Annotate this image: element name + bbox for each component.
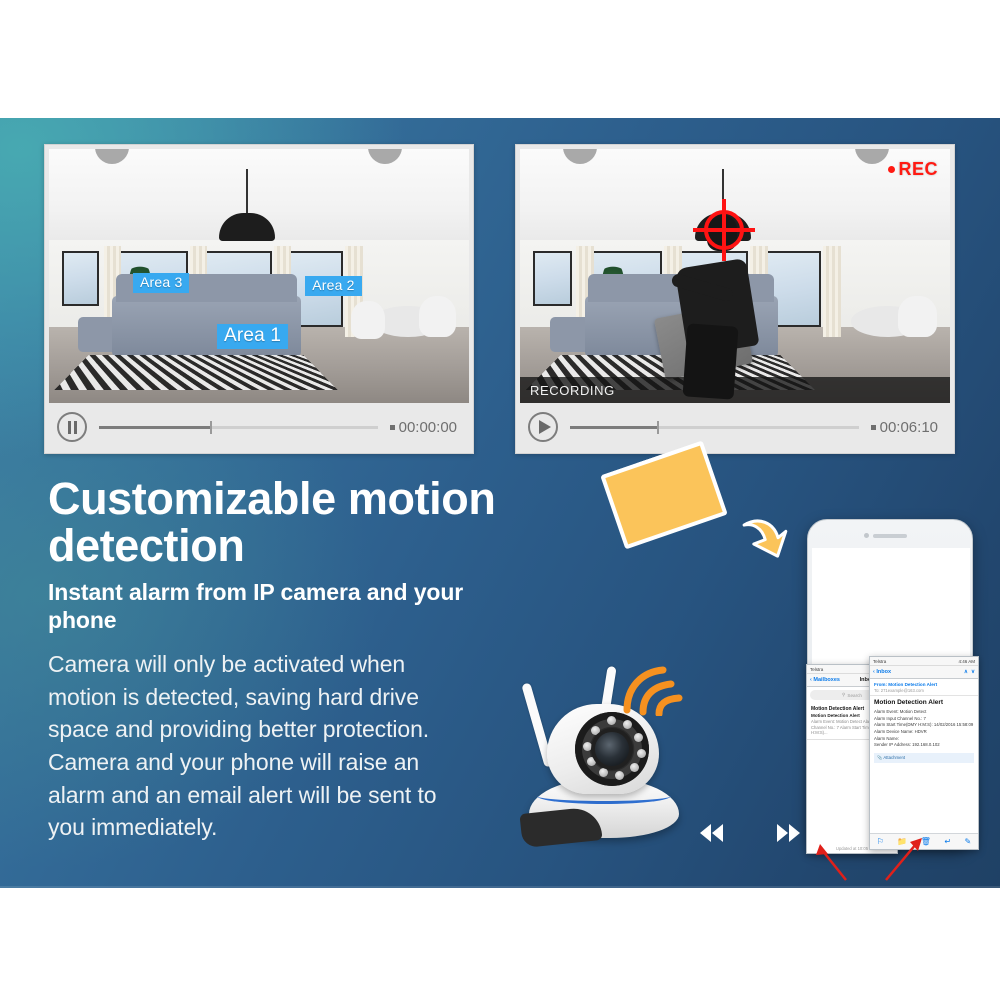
- alert-field: Alarm Start Time(DMY H:M:S): 14/02/2016 …: [874, 722, 974, 729]
- progress-track-left[interactable]: [99, 426, 378, 429]
- back-to-inbox-button[interactable]: ‹ Inbox: [873, 669, 891, 675]
- fast-forward-icon[interactable]: [777, 824, 800, 842]
- alert-field: Alarm Input Channel No.: 7: [874, 716, 974, 723]
- rec-badge: REC: [888, 159, 938, 180]
- envelope-icon: [600, 441, 728, 550]
- alert-field: Alarm Event: Motion Detect: [874, 709, 974, 716]
- mail-to: To: 271example@163.com: [874, 688, 974, 693]
- timestamp-left: 00:00:00: [390, 419, 457, 436]
- timestamp-right: 00:06:10: [871, 419, 938, 436]
- stop-marker-icon: [390, 425, 395, 430]
- subheadline: Instant alarm from IP camera and your ph…: [48, 578, 468, 634]
- body-copy: Camera will only be activated when motio…: [48, 648, 468, 844]
- red-arrow-left: [812, 840, 852, 882]
- video-player-left: Area 3 Area 2 Area 1 00:00:00: [44, 144, 474, 454]
- camera-lens: [595, 732, 629, 766]
- player-controls-right: 00:06:10: [520, 403, 950, 451]
- living-room-scene: [49, 149, 469, 403]
- earpiece: [873, 534, 907, 538]
- area-label-1[interactable]: Area 1: [217, 324, 288, 349]
- mail-subject: Motion Detection Alert: [870, 696, 978, 709]
- search-icon: ⚲: [842, 692, 845, 698]
- wifi-waves-icon: [621, 652, 691, 716]
- red-arrow-right: [880, 834, 926, 882]
- alert-field: Alarm Device Name: HDVR: [874, 729, 974, 736]
- intruder-figure: [666, 215, 786, 398]
- video-screen-right: REC RECORDING: [520, 149, 950, 403]
- mail-header: From: Motion Detection Alert To: 271exam…: [870, 679, 978, 696]
- pause-icon: [68, 421, 77, 434]
- alert-field: Alarm Name:: [874, 736, 974, 743]
- attachment-row[interactable]: 📎 Attachment: [874, 753, 974, 763]
- timestamp-right-value: 00:06:10: [880, 419, 938, 436]
- area-label-2[interactable]: Area 2: [305, 276, 361, 296]
- clock-label: 4:46 AM: [958, 659, 975, 664]
- compose-icon[interactable]: ✎: [965, 837, 972, 846]
- rec-badge-label: REC: [898, 159, 938, 180]
- recording-banner: RECORDING: [520, 377, 950, 403]
- play-icon: [539, 420, 551, 434]
- timestamp-left-value: 00:00:00: [399, 419, 457, 436]
- status-bar-detail: Telstra 4:46 AM: [870, 657, 978, 666]
- reply-icon[interactable]: ↵: [944, 837, 951, 846]
- pause-button[interactable]: [57, 412, 87, 442]
- player-controls-left: 00:00:00: [49, 403, 469, 451]
- crosshair-target-icon: [693, 199, 755, 261]
- back-to-mailboxes-button[interactable]: ‹ Mailboxes: [810, 677, 840, 683]
- skip-controls: [700, 818, 800, 848]
- alert-field: Sender IP Address: 192.168.0.102: [874, 742, 974, 749]
- ip-camera-icon: [515, 658, 705, 848]
- front-camera-icon: [864, 533, 869, 538]
- hero-panel: Area 3 Area 2 Area 1 00:00:00: [0, 118, 1000, 888]
- play-button[interactable]: [528, 412, 558, 442]
- search-placeholder: Search: [847, 693, 862, 698]
- area-label-3[interactable]: Area 3: [133, 273, 189, 293]
- carrier-label: Telstra: [873, 659, 886, 664]
- nav-bar-detail: ‹ Inbox ∧ ∨: [870, 666, 978, 679]
- mail-body: Alarm Event: Motion Detect Alarm Input C…: [870, 709, 978, 749]
- video-player-right: REC RECORDING 00:06:10: [515, 144, 955, 454]
- message-nav-icons[interactable]: ∧ ∨: [964, 669, 975, 675]
- mail-from: From: Motion Detection Alert: [874, 682, 974, 687]
- video-screen-left: Area 3 Area 2 Area 1: [49, 149, 469, 403]
- stop-marker-icon: [871, 425, 876, 430]
- carrier-label: Telstra: [810, 667, 823, 672]
- progress-track-right[interactable]: [570, 426, 859, 429]
- mail-detail-screenshot: Telstra 4:46 AM ‹ Inbox ∧ ∨ From: Motion…: [869, 656, 979, 850]
- rewind-icon[interactable]: [700, 824, 723, 842]
- curved-arrow-icon: [736, 511, 790, 561]
- headline: Customizable motion detection: [48, 476, 518, 570]
- record-dot-icon: [888, 166, 895, 173]
